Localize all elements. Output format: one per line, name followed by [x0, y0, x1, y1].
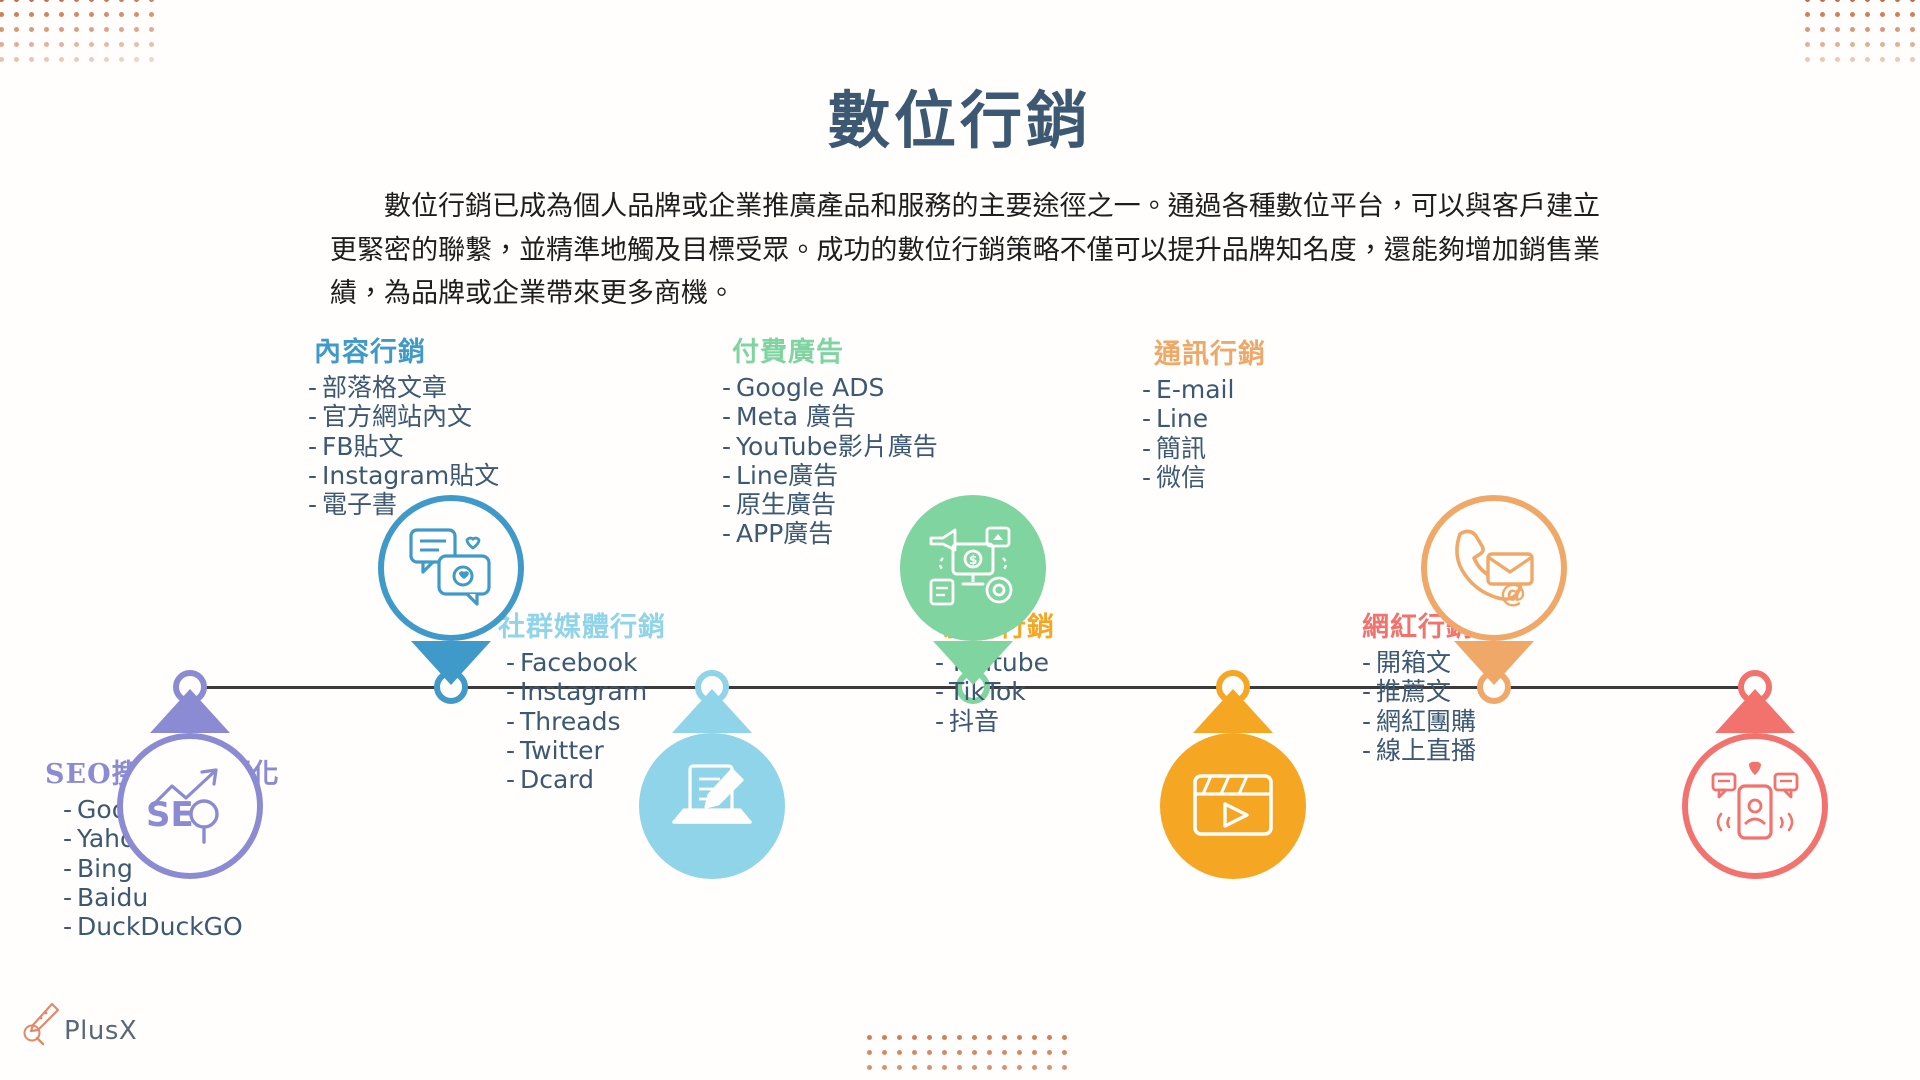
decorative-dot [74, 12, 79, 17]
decorative-dot [1062, 1065, 1067, 1070]
decorative-dot [1002, 1050, 1007, 1055]
pin-tail-messaging [1454, 641, 1534, 685]
decorative-dot [14, 27, 19, 32]
list-item-label: Threads [520, 707, 620, 736]
list-item: -原生廣告 [722, 490, 938, 519]
decorative-dot [1850, 12, 1855, 17]
list-item-label: 推薦文 [1376, 677, 1451, 706]
decorative-dot [1880, 57, 1885, 62]
bullet-dash: - [506, 707, 515, 736]
decorative-dot [1865, 27, 1870, 32]
dot-grid-top-right [1800, 0, 1920, 67]
decorative-dot [1835, 42, 1840, 47]
decorative-dot [74, 42, 79, 47]
decorative-dot [1820, 0, 1825, 2]
phone-hearts-icon [1703, 752, 1807, 861]
decorative-dot [44, 12, 49, 17]
decorative-dot [149, 12, 154, 17]
bullet-dash: - [63, 912, 72, 941]
list-item-label: FB貼文 [322, 432, 404, 461]
decorative-dot [912, 1050, 917, 1055]
decorative-dot [912, 1035, 917, 1040]
decorative-dot [0, 42, 4, 47]
pin-circle-content [378, 495, 524, 641]
list-item-label: 官方網站內文 [322, 402, 472, 431]
list-item: -Instagram [506, 677, 666, 706]
bullet-dash: - [308, 402, 317, 431]
list-item: -官方網站內文 [308, 402, 499, 431]
seo-chart-magnifier-icon: SE [138, 752, 242, 861]
category-list-messaging: -E-mail-Line-簡訊-微信 [1142, 375, 1266, 492]
list-item-label: 簡訊 [1156, 434, 1206, 463]
list-item: -線上直播 [1362, 736, 1476, 765]
list-item: -E-mail [1142, 375, 1266, 404]
list-item-label: Twitter [520, 736, 604, 765]
decorative-dot [134, 0, 139, 2]
decorative-dot [1047, 1035, 1052, 1040]
bullet-dash: - [722, 402, 731, 431]
decorative-dot [1820, 12, 1825, 17]
decorative-dot [119, 57, 124, 62]
decorative-dot [1895, 27, 1900, 32]
decorative-dot [119, 42, 124, 47]
bullet-dash: - [63, 854, 72, 883]
decorative-dot [957, 1065, 962, 1070]
svg-text:@: @ [1500, 579, 1526, 609]
decorative-dot [897, 1050, 902, 1055]
decorative-dot [119, 27, 124, 32]
decorative-dot [1002, 1035, 1007, 1040]
decorative-dot [74, 57, 79, 62]
decorative-dot [1895, 57, 1900, 62]
list-item: -Google ADS [722, 373, 938, 402]
decorative-dot [0, 0, 4, 2]
search-pencil-icon [22, 1000, 62, 1046]
bullet-dash: - [308, 373, 317, 402]
category-label-paid-ads: 付費廣告-Google ADS-Meta 廣告-YouTube影片廣告-Line… [722, 330, 938, 549]
decorative-dot [1835, 57, 1840, 62]
decorative-dot [1820, 27, 1825, 32]
decorative-dot [972, 1035, 977, 1040]
bullet-dash: - [1142, 434, 1151, 463]
decorative-dot [0, 27, 4, 32]
decorative-dot [957, 1035, 962, 1040]
list-item: -微信 [1142, 463, 1266, 492]
video-player-icon [1181, 752, 1285, 861]
decorative-dot [1047, 1050, 1052, 1055]
decorative-dot [942, 1035, 947, 1040]
list-item: -簡訊 [1142, 434, 1266, 463]
decorative-dot [1895, 12, 1900, 17]
list-item: -Threads [506, 707, 666, 736]
decorative-dot [89, 57, 94, 62]
category-title-paid-ads: 付費廣告 [732, 330, 938, 369]
list-item-label: Bing [77, 854, 133, 883]
decorative-dot [74, 27, 79, 32]
pin-tail-seo [150, 689, 230, 733]
decorative-dot [0, 12, 4, 17]
bullet-dash: - [308, 432, 317, 461]
list-item-label: 線上直播 [1376, 736, 1476, 765]
decorative-dot [149, 57, 154, 62]
decorative-dot [1865, 0, 1870, 2]
decorative-dot [1865, 12, 1870, 17]
list-item-label: 部落格文章 [322, 373, 447, 402]
bullet-dash: - [308, 461, 317, 490]
decorative-dot [59, 27, 64, 32]
bullet-dash: - [722, 373, 731, 402]
decorative-dot [1880, 0, 1885, 2]
category-label-content: 內容行銷-部落格文章-官方網站內文-FB貼文-Instagram貼文-電子書 [300, 330, 499, 519]
list-item: -YouTube影片廣告 [722, 432, 938, 461]
pin-tail-video [1193, 689, 1273, 733]
decorative-dot [972, 1065, 977, 1070]
pin-tail-influencer [1715, 689, 1795, 733]
decorative-dot [897, 1065, 902, 1070]
intro-paragraph: 數位行銷已成為個人品牌或企業推廣產品和服務的主要途徑之一。通過各種數位平台，可以… [330, 185, 1600, 316]
list-item-label: Baidu [77, 883, 148, 912]
decorative-dot [882, 1065, 887, 1070]
decorative-dot [1850, 57, 1855, 62]
pin-marker-content[interactable] [378, 495, 524, 641]
dot-grid-top-left [0, 0, 159, 67]
decorative-dot [1062, 1035, 1067, 1040]
decorative-dot [927, 1035, 932, 1040]
category-list-social: -Facebook-Instagram-Threads-Twitter-Dcar… [506, 648, 666, 794]
bullet-dash: - [1362, 707, 1371, 736]
category-title-content: 內容行銷 [314, 330, 499, 369]
decorative-dot [59, 0, 64, 2]
decorative-dot [44, 27, 49, 32]
list-item-label: Line [1156, 404, 1208, 433]
list-item-label: Instagram貼文 [322, 461, 499, 490]
decorative-dot [1880, 27, 1885, 32]
bullet-dash: - [722, 519, 731, 548]
bullet-dash: - [722, 490, 731, 519]
pin-marker-influencer[interactable] [1682, 733, 1828, 879]
list-item: -FB貼文 [308, 432, 499, 461]
list-item-label: 網紅團購 [1376, 707, 1476, 736]
svg-text:SE: SE [146, 795, 194, 835]
decorative-dot [957, 1050, 962, 1055]
decorative-dot [942, 1050, 947, 1055]
decorative-dot [897, 1035, 902, 1040]
bullet-dash: - [1142, 463, 1151, 492]
decorative-dot [1865, 57, 1870, 62]
decorative-dot [1820, 57, 1825, 62]
decorative-dot [1835, 0, 1840, 2]
decorative-dot [29, 57, 34, 62]
pin-circle-messaging: @ [1421, 495, 1567, 641]
decorative-dot [29, 42, 34, 47]
decorative-dot [14, 12, 19, 17]
bullet-dash: - [506, 677, 515, 706]
list-item-label: APP廣告 [736, 519, 833, 548]
decorative-dot [1895, 42, 1900, 47]
decorative-dot [1017, 1035, 1022, 1040]
decorative-dot [1805, 12, 1810, 17]
decorative-dot [1032, 1050, 1037, 1055]
list-item-label: Instagram [520, 677, 647, 706]
pin-circle-social [639, 733, 785, 879]
decorative-dot [912, 1065, 917, 1070]
decorative-dot [927, 1050, 932, 1055]
decorative-dot [0, 57, 4, 62]
bullet-dash: - [1142, 375, 1151, 404]
list-item: -Baidu [63, 883, 280, 912]
decorative-dot [44, 57, 49, 62]
category-list-paid-ads: -Google ADS-Meta 廣告-YouTube影片廣告-Line廣告-原… [722, 373, 938, 549]
pin-marker-video[interactable] [1160, 733, 1306, 879]
phone-email-icon: @ [1442, 514, 1546, 623]
decorative-dot [867, 1050, 872, 1055]
bullet-dash: - [63, 883, 72, 912]
decorative-dot [1805, 57, 1810, 62]
page-title: 數位行銷 [0, 70, 1920, 160]
list-item: -Line廣告 [722, 461, 938, 490]
bullet-dash: - [506, 736, 515, 765]
list-item-label: Facebook [520, 648, 637, 677]
decorative-dot [882, 1050, 887, 1055]
bullet-dash: - [506, 648, 515, 677]
decorative-dot [104, 0, 109, 2]
list-item-label: Google ADS [736, 373, 884, 402]
decorative-dot [1880, 12, 1885, 17]
decorative-dot [1835, 12, 1840, 17]
pin-circle-influencer [1682, 733, 1828, 879]
decorative-dot [942, 1065, 947, 1070]
list-item-label: 開箱文 [1376, 648, 1451, 677]
decorative-dot [987, 1035, 992, 1040]
decorative-dot [1835, 27, 1840, 32]
svg-text:$: $ [969, 553, 977, 567]
list-item: -Facebook [506, 648, 666, 677]
decorative-dot [134, 12, 139, 17]
pin-marker-messaging[interactable]: @ [1421, 495, 1567, 641]
infographic-canvas: 數位行銷 數位行銷已成為個人品牌或企業推廣產品和服務的主要途徑之一。通過各種數位… [0, 0, 1920, 1080]
decorative-dot [1910, 27, 1915, 32]
decorative-dot [59, 57, 64, 62]
decorative-dot [867, 1065, 872, 1070]
ad-megaphone-screen-icon: $ [921, 514, 1025, 623]
decorative-dot [119, 0, 124, 2]
decorative-dot [89, 12, 94, 17]
decorative-dot [29, 12, 34, 17]
decorative-dot [149, 27, 154, 32]
decorative-dot [44, 0, 49, 2]
decorative-dot [104, 57, 109, 62]
decorative-dot [149, 0, 154, 2]
decorative-dot [104, 12, 109, 17]
decorative-dot [134, 57, 139, 62]
chat-bubbles-icon [399, 514, 503, 623]
decorative-dot [89, 42, 94, 47]
decorative-dot [149, 42, 154, 47]
decorative-dot [987, 1065, 992, 1070]
list-item: -Twitter [506, 736, 666, 765]
pin-tail-paid-ads [933, 641, 1013, 685]
decorative-dot [44, 42, 49, 47]
decorative-dot [134, 42, 139, 47]
list-item: -網紅團購 [1362, 707, 1476, 736]
bullet-dash: - [1362, 736, 1371, 765]
brand-logo: PlusX [22, 1000, 137, 1046]
decorative-dot [1910, 0, 1915, 2]
bullet-dash: - [308, 490, 317, 519]
decorative-dot [1880, 42, 1885, 47]
decorative-dot [1910, 57, 1915, 62]
decorative-dot [1032, 1035, 1037, 1040]
decorative-dot [74, 0, 79, 2]
decorative-dot [59, 12, 64, 17]
list-item: -部落格文章 [308, 373, 499, 402]
decorative-dot [1062, 1050, 1067, 1055]
list-item-label: 微信 [1156, 463, 1206, 492]
bullet-dash: - [1362, 648, 1371, 677]
decorative-dot [882, 1035, 887, 1040]
decorative-dot [1850, 42, 1855, 47]
list-item-label: DuckDuckGO [77, 912, 243, 941]
decorative-dot [89, 0, 94, 2]
decorative-dot [14, 42, 19, 47]
bullet-dash: - [63, 795, 72, 824]
pin-marker-paid-ads[interactable]: $ [900, 495, 1046, 641]
decorative-dot [1805, 42, 1810, 47]
decorative-dot [119, 12, 124, 17]
list-item-label: Meta 廣告 [736, 402, 856, 431]
decorative-dot [29, 0, 34, 2]
decorative-dot [867, 1035, 872, 1040]
laptop-pen-icon [660, 752, 764, 861]
list-item-label: Dcard [520, 765, 594, 794]
decorative-dot [14, 0, 19, 2]
list-item-label: 電子書 [322, 490, 397, 519]
bullet-dash: - [722, 432, 731, 461]
dot-grid-bottom-center [862, 1030, 1072, 1075]
pin-circle-video [1160, 733, 1306, 879]
decorative-dot [1895, 0, 1900, 2]
list-item: -DuckDuckGO [63, 912, 280, 941]
list-item-label: YouTube影片廣告 [736, 432, 938, 461]
decorative-dot [14, 57, 19, 62]
list-item-label: Line廣告 [736, 461, 838, 490]
decorative-dot [1850, 0, 1855, 2]
decorative-dot [1805, 0, 1810, 2]
decorative-dot [1047, 1065, 1052, 1070]
category-title-social: 社群媒體行銷 [498, 605, 666, 644]
bullet-dash: - [63, 824, 72, 853]
decorative-dot [59, 42, 64, 47]
decorative-dot [1017, 1050, 1022, 1055]
bullet-dash: - [506, 765, 515, 794]
decorative-dot [1910, 12, 1915, 17]
decorative-dot [1002, 1065, 1007, 1070]
pin-circle-seo: SE [117, 733, 263, 879]
decorative-dot [134, 27, 139, 32]
pin-circle-paid-ads: $ [900, 495, 1046, 641]
decorative-dot [1910, 42, 1915, 47]
decorative-dot [29, 27, 34, 32]
list-item: -Line [1142, 404, 1266, 433]
bullet-dash: - [722, 461, 731, 490]
decorative-dot [927, 1065, 932, 1070]
decorative-dot [104, 42, 109, 47]
list-item-label: E-mail [1156, 375, 1234, 404]
decorative-dot [89, 27, 94, 32]
pin-tail-social [672, 689, 752, 733]
bullet-dash: - [935, 707, 944, 736]
list-item-label: 抖音 [949, 707, 999, 736]
pin-tail-content [411, 641, 491, 685]
category-title-messaging: 通訊行銷 [1154, 332, 1266, 371]
list-item: -Instagram貼文 [308, 461, 499, 490]
category-label-messaging: 通訊行銷-E-mail-Line-簡訊-微信 [1142, 332, 1266, 492]
decorative-dot [1805, 27, 1810, 32]
bullet-dash: - [1362, 677, 1371, 706]
decorative-dot [987, 1050, 992, 1055]
decorative-dot [1865, 42, 1870, 47]
list-item: -抖音 [935, 707, 1055, 736]
category-label-social: 社群媒體行銷-Facebook-Instagram-Threads-Twitte… [488, 605, 666, 794]
list-item-label: 原生廣告 [736, 490, 836, 519]
decorative-dot [972, 1050, 977, 1055]
brand-name: PlusX [64, 1016, 137, 1046]
bullet-dash: - [1142, 404, 1151, 433]
decorative-dot [1820, 42, 1825, 47]
pin-marker-seo[interactable]: SE [117, 733, 263, 879]
decorative-dot [1850, 27, 1855, 32]
pin-marker-social[interactable] [639, 733, 785, 879]
decorative-dot [1017, 1065, 1022, 1070]
list-item: -Meta 廣告 [722, 402, 938, 431]
decorative-dot [1032, 1065, 1037, 1070]
decorative-dot [104, 27, 109, 32]
